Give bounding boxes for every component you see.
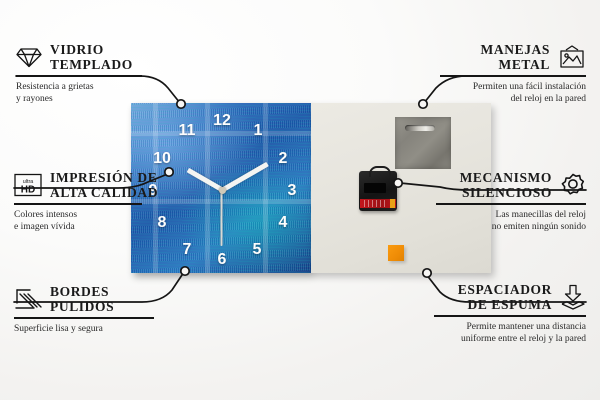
callout-underline xyxy=(434,315,586,317)
arrow-down-pad-icon xyxy=(560,284,586,310)
clock-numeral-5: 5 xyxy=(253,242,262,258)
gear-icon xyxy=(560,173,586,198)
clock-numeral-3: 3 xyxy=(288,183,297,199)
callout-title-line2: METAL xyxy=(481,57,550,72)
callout-impresion-alta-calidad: ultra HD IMPRESIÓN DE ALTA CALIDAD Color… xyxy=(14,170,142,233)
callout-desc-line1: Las manecillas del reloj xyxy=(436,209,586,221)
polished-edges-icon xyxy=(14,288,42,311)
callout-desc-line1: Resistencia a grietas xyxy=(16,81,142,93)
callout-underline xyxy=(440,75,586,77)
callout-desc-line2: uniforme entre el reloj y la pared xyxy=(434,333,586,345)
clock-numeral-2: 2 xyxy=(279,151,288,167)
callout-desc-line2: y rayones xyxy=(16,93,142,105)
callout-desc-line2: no emiten ningún sonido xyxy=(436,221,586,233)
movement-battery-slot xyxy=(364,183,386,193)
movement-yellow-chip xyxy=(390,199,395,208)
callout-underline xyxy=(14,317,154,319)
callout-underline xyxy=(436,203,586,205)
clock-numeral-11: 11 xyxy=(179,123,196,139)
minute-hand xyxy=(221,162,269,192)
clock-numeral-8: 8 xyxy=(158,215,167,231)
callout-title-line2: DE ESPUMA xyxy=(458,297,552,312)
clock-numeral-10: 10 xyxy=(153,151,171,167)
clock-art-gridline xyxy=(131,131,311,136)
callout-title-line2: SILENCIOSO xyxy=(460,185,552,200)
callout-manejas-metal: MANEJAS METAL Permiten una fácil instala… xyxy=(440,42,586,105)
clock-numeral-4: 4 xyxy=(279,215,288,231)
movement-hanger-loop xyxy=(369,166,391,177)
callout-underline xyxy=(16,75,142,77)
callout-title-line1: MANEJAS xyxy=(481,42,550,57)
hanger-keyhole-slot xyxy=(405,125,435,131)
callout-desc-line1: Colores intensos xyxy=(14,209,142,221)
callout-underline xyxy=(14,203,142,205)
clock-numeral-6: 6 xyxy=(218,252,227,268)
metal-hanger-plate xyxy=(395,117,451,169)
callout-title-line1: MECANISMO xyxy=(460,170,552,185)
callout-title-line1: ESPACIADOR xyxy=(458,282,552,297)
orange-foam-spacer xyxy=(388,245,404,261)
callout-title-line1: BORDES xyxy=(50,284,114,299)
callout-desc-line2: e imagen vívida xyxy=(14,221,142,233)
hand-center-cap xyxy=(219,187,226,194)
second-hand xyxy=(221,190,223,246)
callout-title-line2: TEMPLADO xyxy=(50,57,133,72)
clock-art-gridline xyxy=(263,103,268,273)
clock-art-gridline xyxy=(205,103,210,273)
callout-title-line2: PULIDOS xyxy=(50,299,114,314)
callout-title-line2: ALTA CALIDAD xyxy=(50,185,158,200)
picture-frame-icon xyxy=(558,45,586,69)
clock-numeral-12: 12 xyxy=(213,113,231,129)
callout-vidrio-templado: VIDRIO TEMPLADO Resistencia a grietas y … xyxy=(16,42,142,105)
callout-title-line1: VIDRIO xyxy=(50,42,133,57)
callout-desc-line2: del reloj en la pared xyxy=(440,93,586,105)
callout-title-line1: IMPRESIÓN DE xyxy=(50,170,158,185)
svg-text:HD: HD xyxy=(21,185,35,196)
quartz-movement-box xyxy=(359,171,397,211)
diamond-icon xyxy=(16,46,42,68)
infographic-canvas: 12 1 2 3 4 5 6 7 8 9 10 11 xyxy=(0,0,600,400)
callout-desc-line1: Permite mantener una distancia xyxy=(434,321,586,333)
ultra-hd-icon: ultra HD xyxy=(14,173,42,197)
callout-mecanismo-silencioso: MECANISMO SILENCIOSO Las manecillas del … xyxy=(436,170,586,233)
callout-desc-line1: Permiten una fácil instalación xyxy=(440,81,586,93)
clock-numeral-1: 1 xyxy=(254,123,263,139)
clock-numeral-7: 7 xyxy=(183,242,192,258)
callout-desc-line1: Superficie lisa y segura xyxy=(14,323,154,335)
callout-bordes-pulidos: BORDES PULIDOS Superficie lisa y segura xyxy=(14,284,154,335)
callout-espaciador-espuma: ESPACIADOR DE ESPUMA Permite mantener un… xyxy=(434,282,586,345)
